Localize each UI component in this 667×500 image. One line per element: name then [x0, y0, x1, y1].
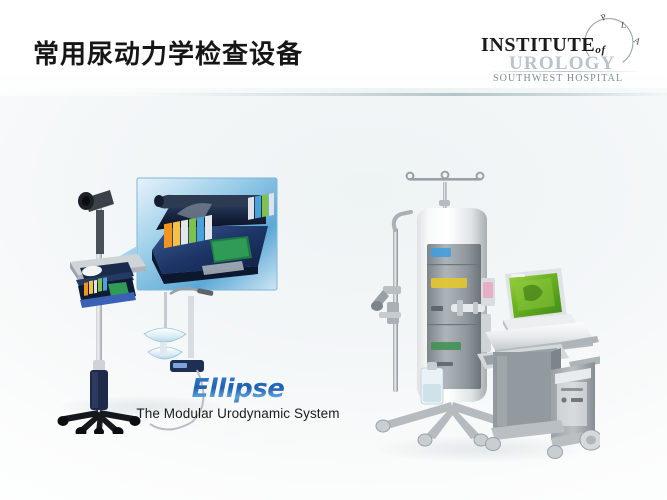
page-title: 常用尿动力学检查设备 — [33, 38, 303, 72]
right-device-photo — [365, 156, 600, 461]
slide-header: 常用尿动力学检查设备 P L A INSTITUTEof UROLOGY SOU… — [0, 0, 667, 96]
slide-root: 常用尿动力学检查设备 P L A INSTITUTEof UROLOGY SOU… — [0, 0, 667, 500]
ellipse-tagline: The Modular Urodynamic System — [108, 404, 368, 424]
logo-divider — [491, 71, 641, 72]
slide-body: Ellipse The Modular Urodynamic System — [0, 96, 667, 500]
institute-logo: P L A INSTITUTEof UROLOGY SOUTHWEST HOSP… — [473, 8, 649, 84]
ellipse-brand-wordmark: Ellipse — [192, 374, 285, 404]
logo-hospital-text: SOUTHWEST HOSPITAL — [493, 73, 623, 84]
left-device-caption: Ellipse The Modular Urodynamic System — [108, 374, 368, 424]
